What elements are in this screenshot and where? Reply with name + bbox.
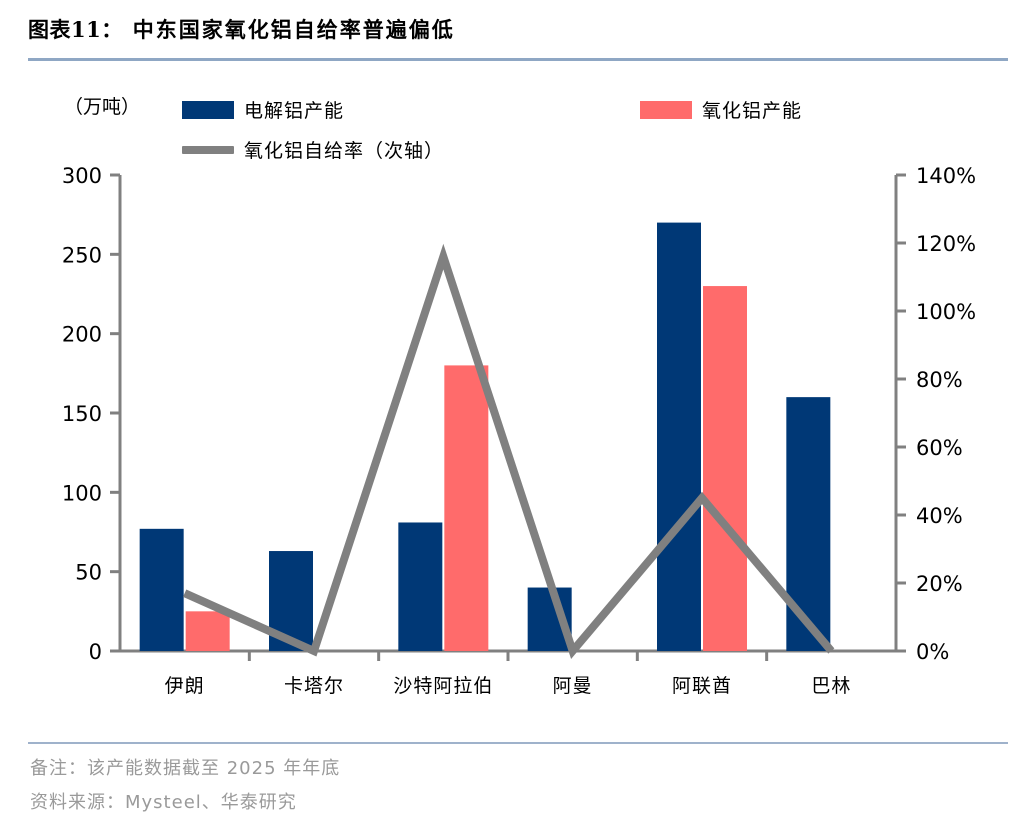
legend-swatch-alumina	[640, 101, 692, 119]
legend-swatch-electrolytic-aluminum	[182, 101, 234, 119]
x-axis-category-label: 阿联酋	[672, 675, 732, 697]
x-axis-category-label: 卡塔尔	[284, 675, 344, 697]
y-axis-left-tick-label: 150	[62, 402, 102, 426]
x-axis-category-label: 沙特阿拉伯	[393, 675, 493, 697]
x-axis-category-label: 巴林	[811, 675, 851, 697]
bar-alumina	[703, 286, 747, 651]
y-axis-right-tick-label: 80%	[916, 368, 963, 392]
bar-electrolytic-aluminum	[786, 397, 830, 651]
chart-header: 图表11： 中东国家氧化铝自给率普遍偏低	[28, 14, 1008, 62]
bar-alumina	[186, 611, 230, 651]
y-axis-right-tick-label: 120%	[916, 232, 976, 256]
bar-alumina	[444, 365, 488, 651]
chart-legend: （万吨） 电解铝产能 氧化铝产能 氧化铝自给率（次轴）	[60, 88, 960, 166]
bar-electrolytic-aluminum	[269, 551, 313, 651]
y-axis-right-tick-label: 40%	[916, 504, 963, 528]
x-axis-category-label: 阿曼	[553, 675, 593, 697]
y-axis-right-tick-label: 0%	[916, 640, 949, 664]
legend-item-self-sufficiency-rate[interactable]: 氧化铝自给率（次轴）	[182, 136, 444, 163]
figure-title-text: 中东国家氧化铝自给率普遍偏低	[133, 14, 455, 44]
title-divider	[28, 58, 1008, 61]
bar-electrolytic-aluminum	[140, 529, 184, 651]
figure-number-label: 图表11：	[28, 14, 123, 44]
line-self-sufficiency-rate	[185, 257, 832, 651]
y-axis-unit-label: （万吨）	[64, 92, 140, 119]
y-axis-left-tick-label: 200	[62, 323, 102, 347]
legend-label-alumina: 氧化铝产能	[702, 96, 802, 123]
legend-item-electrolytic-aluminum[interactable]: 电解铝产能	[182, 96, 344, 123]
chart-footer: 备注：该产能数据截至 2025 年年底 资料来源：Mysteel、华泰研究	[30, 752, 990, 820]
y-axis-left-tick-label: 50	[75, 561, 102, 585]
y-axis-right-tick-label: 20%	[916, 572, 963, 596]
y-axis-left-tick-label: 0	[89, 640, 102, 664]
legend-label-self-sufficiency-rate: 氧化铝自给率（次轴）	[244, 136, 444, 163]
bar-electrolytic-aluminum	[398, 522, 442, 651]
bar-electrolytic-aluminum	[528, 588, 572, 651]
footer-note: 备注：该产能数据截至 2025 年年底	[30, 752, 990, 786]
y-axis-right-tick-label: 60%	[916, 436, 963, 460]
legend-swatch-self-sufficiency-rate	[182, 146, 234, 154]
legend-item-alumina[interactable]: 氧化铝产能	[640, 96, 802, 123]
footer-divider	[28, 742, 1008, 744]
y-axis-left-tick-label: 250	[62, 243, 102, 267]
footer-source: 资料来源：Mysteel、华泰研究	[30, 786, 990, 820]
y-axis-right-tick-label: 100%	[916, 300, 976, 324]
y-axis-right-tick-label: 140%	[916, 164, 976, 188]
x-axis-category-label: 伊朗	[165, 675, 205, 697]
y-axis-left-tick-label: 100	[62, 481, 102, 505]
bar-electrolytic-aluminum	[657, 223, 701, 651]
page-title: 图表11： 中东国家氧化铝自给率普遍偏低	[28, 14, 1008, 44]
legend-label-electrolytic-aluminum: 电解铝产能	[244, 96, 344, 123]
y-axis-left-tick-label: 300	[62, 164, 102, 188]
